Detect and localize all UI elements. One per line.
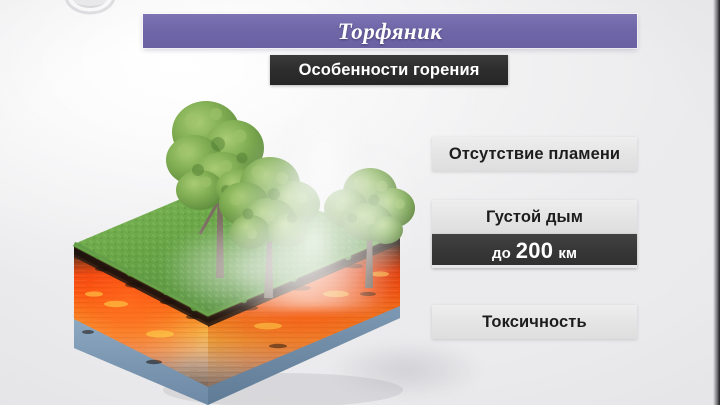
- channel-logo-watermark-icon: [62, 0, 118, 18]
- slide-title: Торфяник: [338, 20, 443, 43]
- frame-right-edge: [713, 0, 720, 405]
- diorama-floor-shadow: [330, 330, 520, 405]
- model-tree-right: [320, 162, 420, 290]
- slide-subtitle: Особенности горения: [299, 62, 480, 79]
- slide-subtitle-chip: Особенности горения: [270, 55, 508, 85]
- slide-canvas: Торфяник Особенности горения Отсутствие …: [0, 0, 720, 405]
- model-tree-middle: [216, 150, 326, 300]
- slide-title-banner: Торфяник: [143, 14, 637, 48]
- fact-label-thick-smoke: Густой дым: [486, 209, 583, 226]
- fact-chip-toxicity: Токсичность: [432, 305, 637, 339]
- distance-prefix: до: [492, 246, 511, 261]
- fact-chip-thick-smoke: Густой дым: [432, 200, 637, 234]
- fact-label-toxicity: Токсичность: [482, 314, 586, 331]
- fact-label-no-flame: Отсутствие пламени: [449, 146, 620, 163]
- fact-chip-no-flame: Отсутствие пламени: [432, 137, 637, 171]
- fact-chip-smoke-distance: до 200 км: [432, 234, 637, 268]
- distance-value: 200: [516, 240, 554, 262]
- distance-unit: км: [558, 246, 577, 261]
